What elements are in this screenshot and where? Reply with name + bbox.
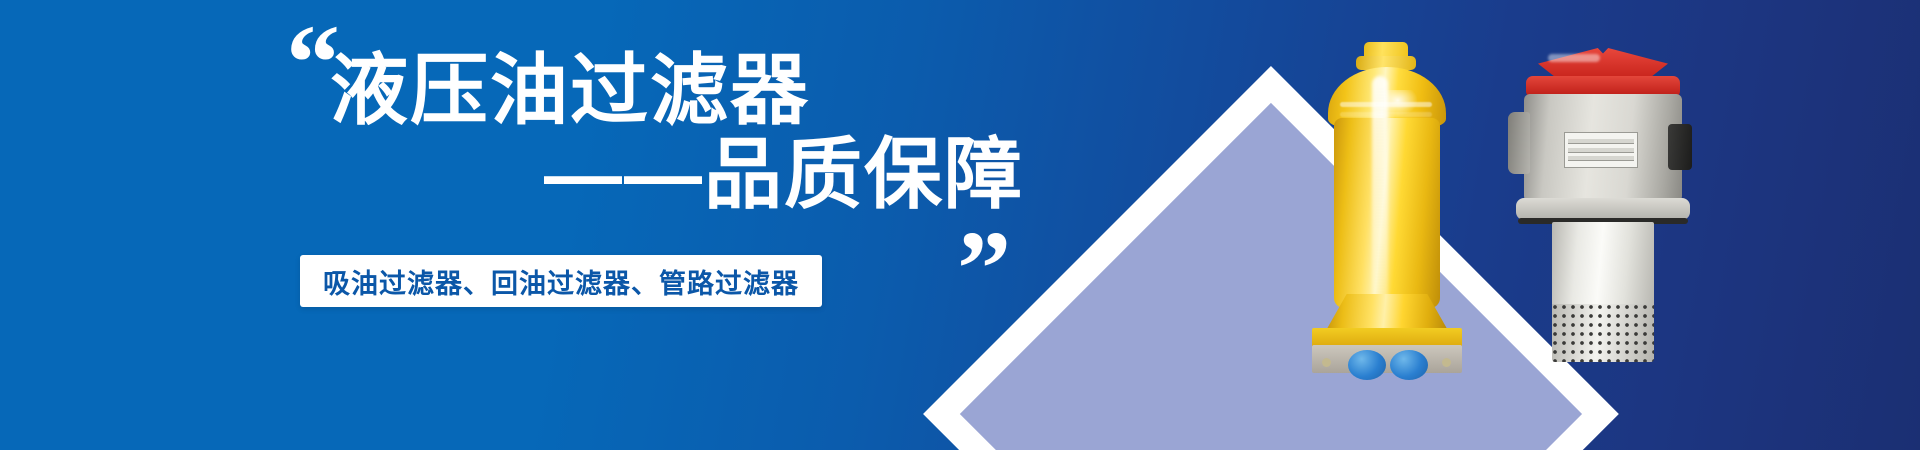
headline-line-1: 液压油过滤器 (330, 48, 1030, 132)
gray-filter-side-port (1508, 112, 1530, 174)
product-image-gray-filter (1508, 48, 1698, 363)
yellow-filter-bolt-left (1322, 358, 1331, 367)
gray-filter-flange (1516, 198, 1690, 220)
product-photo-area (1140, 0, 1920, 450)
close-quote-mark: „ (958, 160, 1012, 268)
subtitle-banner: 吸油过滤器、回油过滤器、管路过滤器 (300, 255, 822, 307)
headline-line-2: ——品质保障 (330, 132, 1030, 216)
yellow-filter-gloss (1372, 76, 1388, 304)
yellow-filter-base (1312, 345, 1462, 373)
gray-filter-nameplate (1564, 132, 1638, 168)
yellow-filter-port-right (1390, 350, 1428, 380)
gray-filter-cap-gloss (1548, 54, 1600, 62)
gray-filter-black-fitting (1668, 124, 1692, 170)
yellow-filter-bolt-right (1442, 358, 1451, 367)
product-image-yellow-filter (1312, 42, 1462, 352)
nameplate-row (1568, 148, 1634, 153)
banner-headline: 液压油过滤器 ——品质保障 (330, 48, 1030, 216)
nameplate-row (1568, 156, 1634, 161)
nameplate-row (1568, 139, 1634, 144)
promo-banner: “ 液压油过滤器 ——品质保障 „ 吸油过滤器、回油过滤器、管路过滤器 (0, 0, 1920, 450)
subtitle-text: 吸油过滤器、回油过滤器、管路过滤器 (323, 262, 799, 301)
yellow-filter-port-left (1348, 350, 1386, 380)
yellow-filter-highlight (1384, 90, 1418, 116)
gray-filter-mesh-screen (1552, 304, 1654, 362)
